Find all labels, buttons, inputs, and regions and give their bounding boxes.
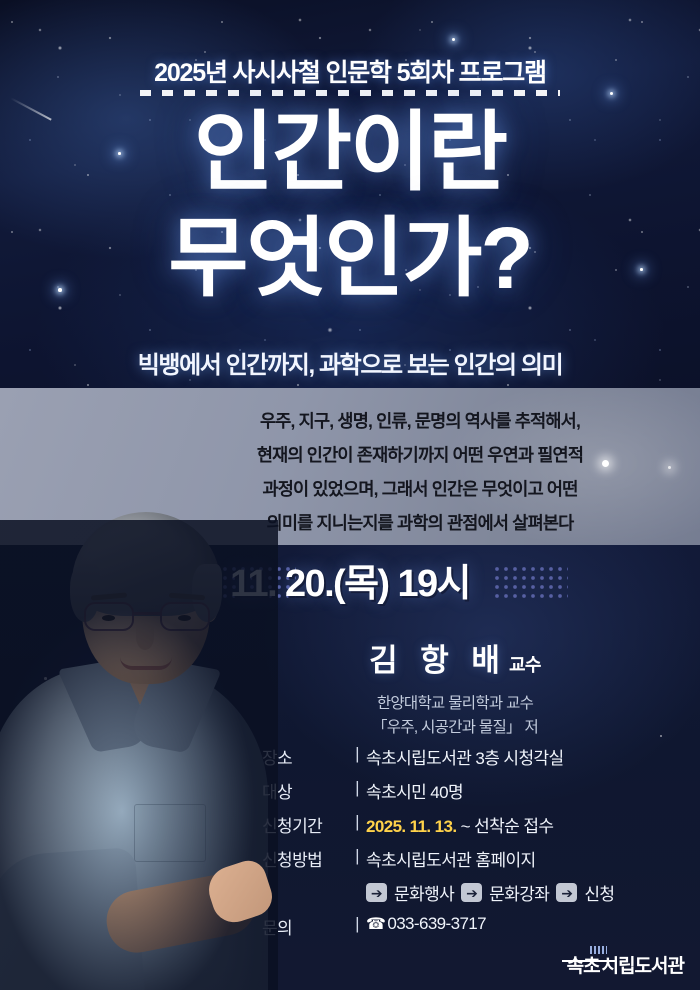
arrow-right-icon: ➔ <box>366 883 387 902</box>
logo-name-text: 시립도서관 <box>602 951 684 978</box>
contact-phone-number[interactable]: 033-639-3717 <box>387 914 486 933</box>
bright-star <box>610 92 613 95</box>
subtitle: 빅뱅에서 인간까지, 과학으로 보는 인간의 의미 <box>0 345 700 380</box>
description-line: 우주, 지구, 생명, 인류, 문명의 역사를 추적해서, <box>175 404 665 438</box>
speaker-book: 「우주, 시공간과 물질」 저 <box>240 716 670 740</box>
library-logo: 속초 시립도서관 <box>567 951 684 978</box>
logo-decoration-icon <box>590 946 607 954</box>
info-value-method: 속초시립도서관 홈페이지 <box>366 846 682 871</box>
step-label-culture-lecture[interactable]: 문화강좌 <box>489 880 549 905</box>
bright-star <box>452 38 455 41</box>
telephone-icon: ☎ <box>366 914 385 934</box>
info-separator: | <box>348 744 366 764</box>
info-value-place: 속초시립도서관 3층 시청각실 <box>366 744 682 769</box>
speaker-title: 교수 <box>509 651 541 677</box>
arrow-right-icon: ➔ <box>556 883 577 902</box>
dashed-divider <box>140 90 560 96</box>
title-line-2: 무엇인가? <box>0 206 700 312</box>
title-line-1: 인간이란 <box>194 104 506 201</box>
speaker-headline: 김 항 배교수 <box>240 635 670 680</box>
info-value-audience: 속초시민 40명 <box>366 778 682 803</box>
info-separator: | <box>348 914 366 934</box>
program-kicker: 2025년 사시사철 인문학 5회차 프로그램 <box>0 53 700 89</box>
speaker-block: 김 항 배교수 한양대학교 물리학과 교수 「우주, 시공간과 물질」 저 <box>240 635 670 740</box>
step-label-culture-event[interactable]: 문화행사 <box>394 880 454 905</box>
application-period-rest: ~ 선착순 접수 <box>457 817 554 836</box>
info-separator: | <box>348 846 366 866</box>
info-row-method: 신청방법 | 속초시립도서관 홈페이지 <box>262 846 682 871</box>
arrow-right-icon: ➔ <box>461 883 482 902</box>
application-start-date: 2025. 11. 13. <box>366 817 457 836</box>
poster-canvas: 2025년 사시사철 인문학 5회차 프로그램 인간이란 무엇인가? 빅뱅에서 … <box>0 0 700 990</box>
info-row-place: 장소 | 속초시립도서관 3층 시청각실 <box>262 744 682 769</box>
logo-mark: 속초 <box>567 951 600 978</box>
info-value-contact: ☎033-639-3717 <box>366 914 682 934</box>
info-row-audience: 대상 | 속초시민 40명 <box>262 778 682 803</box>
info-value-period: 2025. 11. 13. ~ 선착순 접수 <box>366 812 682 837</box>
page-title: 인간이란 무엇인가? <box>0 100 700 312</box>
speaker-affiliation: 한양대학교 물리학과 교수 <box>240 692 670 716</box>
speaker-portrait-photo <box>0 452 278 990</box>
info-separator: | <box>348 812 366 832</box>
info-row-contact: 문의 | ☎033-639-3717 <box>262 914 682 939</box>
application-steps: ➔ 문화행사 ➔ 문화강좌 ➔ 신청 <box>366 880 682 905</box>
speaker-name: 김 항 배 <box>369 635 507 680</box>
info-separator: | <box>348 778 366 798</box>
event-info-table: 장소 | 속초시립도서관 3층 시청각실 대상 | 속초시민 40명 신청기간 … <box>262 744 682 948</box>
info-row-period: 신청기간 | 2025. 11. 13. ~ 선착순 접수 <box>262 812 682 837</box>
logo-underline <box>562 960 616 962</box>
band-glow <box>668 466 671 469</box>
step-label-apply[interactable]: 신청 <box>584 880 614 905</box>
